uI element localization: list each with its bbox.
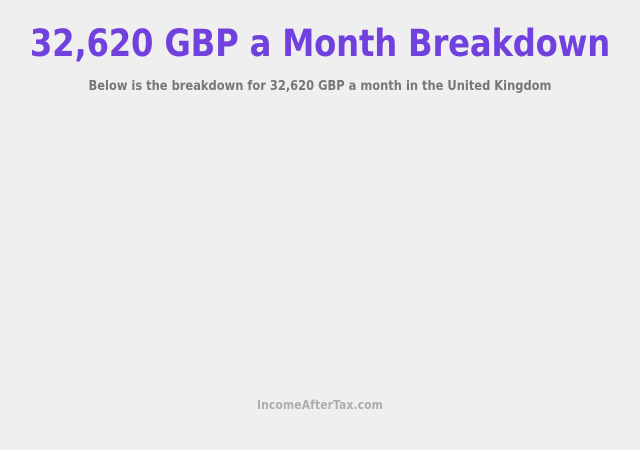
breakdown-page: 32,620 GBP a Month Breakdown Below is th…	[0, 0, 640, 450]
page-footer: IncomeAfterTax.com	[0, 396, 640, 450]
chart-plot-empty	[0, 95, 640, 396]
page-header: 32,620 GBP a Month Breakdown Below is th…	[0, 0, 640, 95]
chart-area	[0, 95, 640, 396]
site-credit: IncomeAfterTax.com	[257, 398, 383, 412]
page-title: 32,620 GBP a Month Breakdown	[10, 22, 631, 66]
page-subtitle: Below is the breakdown for 32,620 GBP a …	[6, 66, 633, 95]
